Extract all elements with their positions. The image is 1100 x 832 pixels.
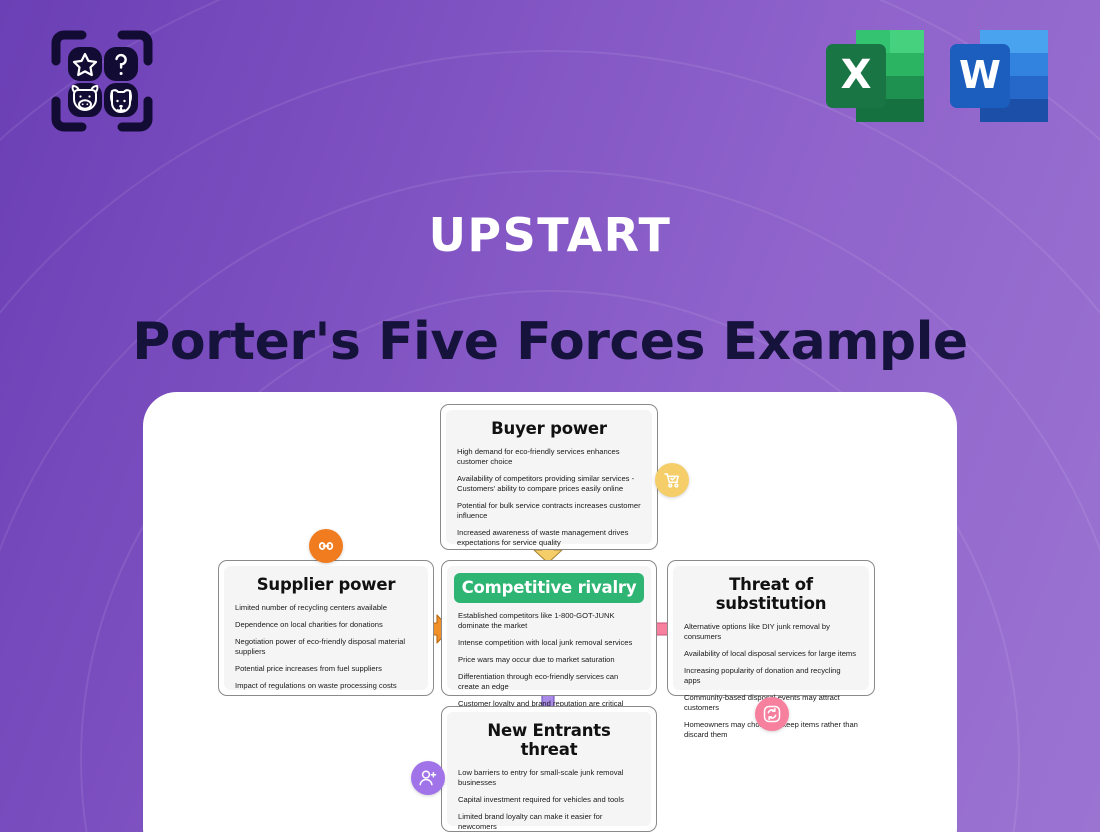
- add-user-icon: [411, 761, 445, 795]
- upstart-logo[interactable]: [48, 27, 156, 135]
- force-box-buyer[interactable]: Buyer power High demand for eco-friendly…: [440, 404, 658, 550]
- slide-canvas: X W UPSTART Porter's Five Forces Example: [0, 0, 1100, 832]
- force-point: High demand for eco-friendly services en…: [457, 447, 641, 467]
- force-points-new-entrants: Low barriers to entry for small-scale ju…: [458, 768, 640, 832]
- force-point: Availability of competitors providing si…: [457, 474, 641, 494]
- svg-text:X: X: [841, 52, 872, 98]
- link-chain-icon: [309, 529, 343, 563]
- force-title-substitution: Threat of substitution: [684, 575, 858, 613]
- force-box-new-entrants[interactable]: New Entrants threat Low barriers to entr…: [441, 706, 657, 832]
- force-point: Alternative options like DIY junk remova…: [684, 622, 858, 642]
- force-point: Potential price increases from fuel supp…: [235, 664, 417, 674]
- force-box-rivalry[interactable]: Competitive rivalry Established competit…: [441, 560, 657, 696]
- force-point: Increased awareness of waste management …: [457, 528, 641, 548]
- force-point: Availability of local disposal services …: [684, 649, 858, 659]
- force-title-rivalry: Competitive rivalry: [454, 573, 644, 603]
- force-points-rivalry: Established competitors like 1-800-GOT-J…: [458, 611, 640, 719]
- force-point: Intense competition with local junk remo…: [458, 638, 640, 648]
- word-icon[interactable]: W: [950, 26, 1048, 126]
- force-point: Potential for bulk service contracts inc…: [457, 501, 641, 521]
- force-points-buyer: High demand for eco-friendly services en…: [457, 447, 641, 548]
- force-point: Negotiation power of eco-friendly dispos…: [235, 637, 417, 657]
- force-title-buyer: Buyer power: [457, 419, 641, 438]
- force-point: Price wars may occur due to market satur…: [458, 655, 640, 665]
- force-points-supplier: Limited number of recycling centers avai…: [235, 603, 417, 691]
- refresh-sync-icon: [755, 697, 789, 731]
- force-point: Limited number of recycling centers avai…: [235, 603, 417, 613]
- force-point: Dependence on local charities for donati…: [235, 620, 417, 630]
- brand-name: UPSTART: [0, 208, 1100, 262]
- force-point: Differentiation through eco-friendly ser…: [458, 672, 640, 692]
- force-title-new-entrants: New Entrants threat: [458, 721, 640, 759]
- app-icons-group: X W: [826, 26, 1048, 126]
- force-point: Increasing popularity of donation and re…: [684, 666, 858, 686]
- force-point: Impact of regulations on waste processin…: [235, 681, 417, 691]
- shopping-cart-icon: [655, 463, 689, 497]
- force-point: Capital investment required for vehicles…: [458, 795, 640, 805]
- force-box-substitution[interactable]: Threat of substitution Alternative optio…: [667, 560, 875, 696]
- page-title: Porter's Five Forces Example: [0, 312, 1100, 372]
- excel-icon[interactable]: X: [826, 26, 924, 126]
- force-title-supplier: Supplier power: [235, 575, 417, 594]
- force-point: Low barriers to entry for small-scale ju…: [458, 768, 640, 788]
- force-box-supplier[interactable]: Supplier power Limited number of recycli…: [218, 560, 434, 696]
- svg-text:W: W: [959, 53, 1001, 97]
- force-point: Established competitors like 1-800-GOT-J…: [458, 611, 640, 631]
- force-point: Limited brand loyalty can make it easier…: [458, 812, 640, 832]
